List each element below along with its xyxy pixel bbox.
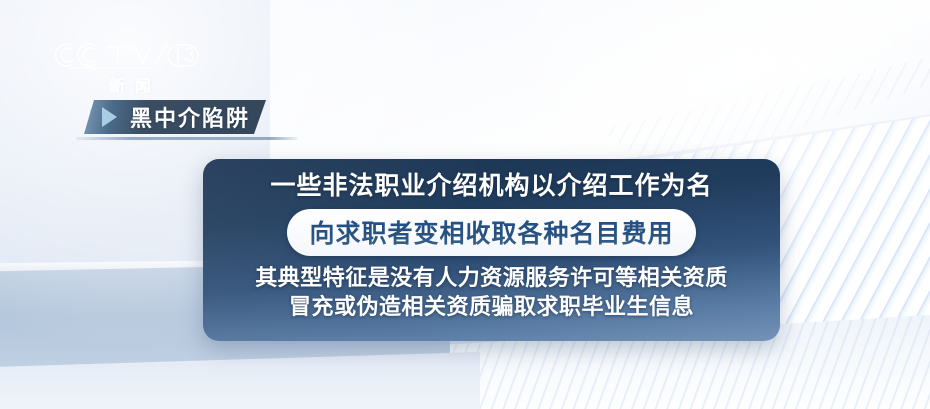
topic-banner: 黑中介陷阱	[84, 100, 266, 134]
content-line-4: 冒充或伪造相关资质骗取求职毕业生信息	[255, 292, 728, 321]
content-line-1: 一些非法职业介绍机构以介绍工作为名	[270, 170, 712, 203]
cctv13-logo: 新闻	[55, 38, 205, 98]
cctv-com-watermark: CCTV 央视网 com	[733, 38, 908, 90]
topic-banner-label: 黑中介陷阱	[130, 101, 250, 133]
watermark-brand: CCTV	[733, 48, 811, 82]
content-highlight-pill: 向求职者变相收取各种名目费用	[287, 209, 695, 256]
content-highlight-text: 向求职者变相收取各种名目费用	[309, 214, 673, 250]
content-panel: 一些非法职业介绍机构以介绍工作为名 向求职者变相收取各种名目费用 其典型特征是没…	[203, 159, 780, 341]
topic-banner-underline	[76, 137, 298, 140]
watermark-chinese: 央视网	[829, 38, 868, 54]
play-triangle-icon	[102, 107, 117, 127]
news-broadcast-frame: 新闻 CCTV 央视网 com 黑中介陷阱 一些非法职业介绍机构以介绍工作为名 …	[0, 0, 930, 409]
topic-banner-body: 黑中介陷阱	[84, 100, 266, 134]
cctv13-subtitle: 新闻	[55, 72, 205, 96]
content-line-3: 其典型特征是没有人力资源服务许可等相关资质	[255, 263, 728, 292]
watermark-suffix: com	[825, 54, 878, 85]
